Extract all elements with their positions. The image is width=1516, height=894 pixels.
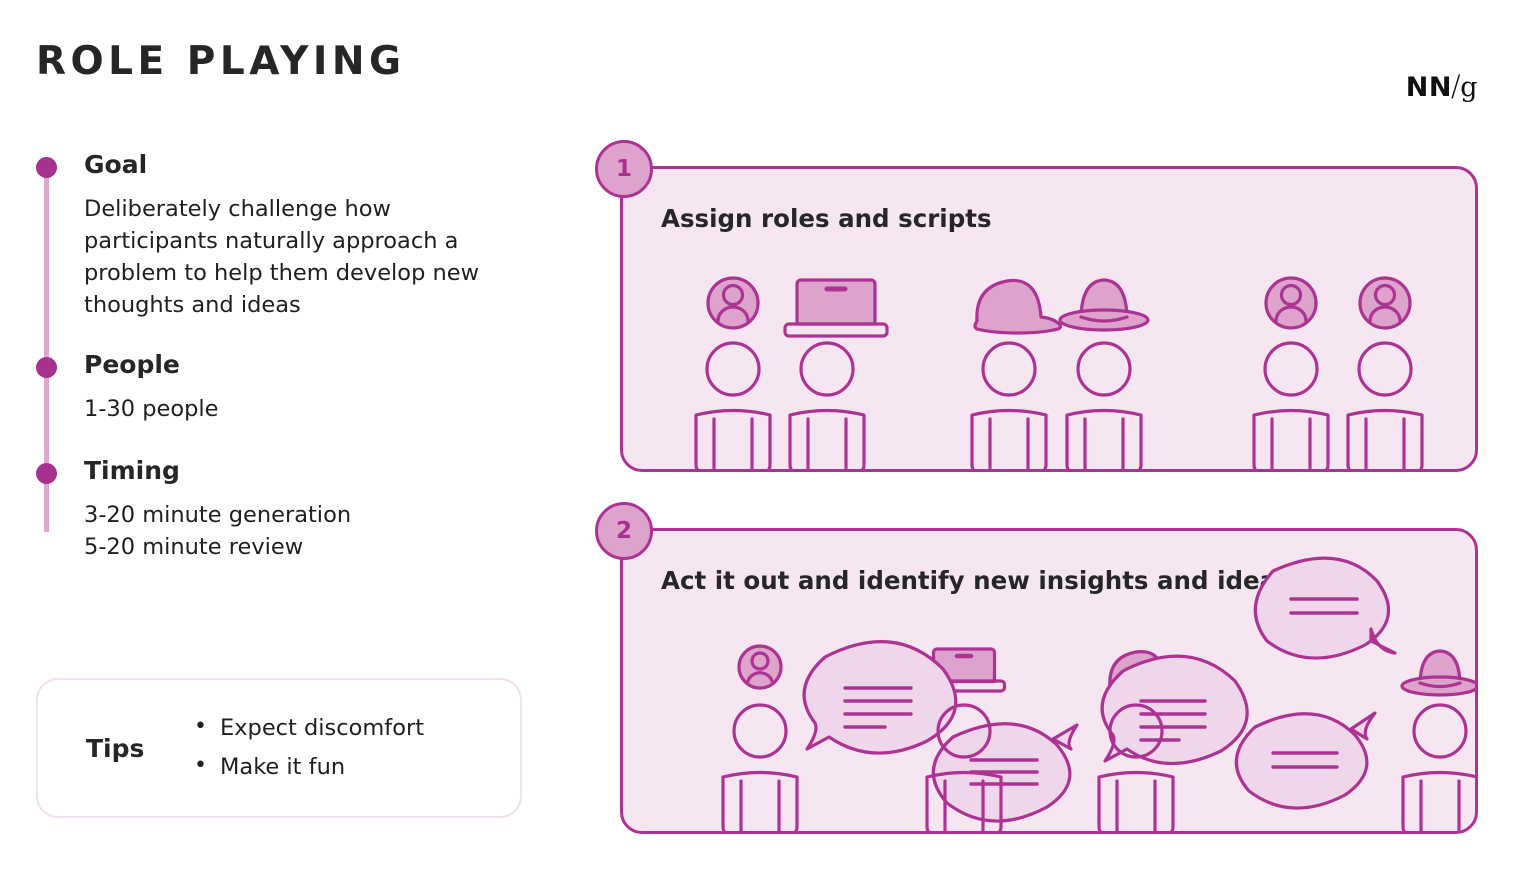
meta-text-people: 1-30 people <box>84 394 529 426</box>
meta-label-timing: Timing <box>84 456 556 486</box>
tips-list-item: Expect discomfort <box>194 709 424 748</box>
avatar-badge-icon <box>1266 278 1316 328</box>
meta-block-goal: Goal Deliberately challenge how particip… <box>36 150 556 322</box>
meta-text-timing: 3-20 minute generation 5-20 minute revie… <box>84 500 529 564</box>
figure-group-5 <box>1254 278 1328 472</box>
figure-group-4 <box>1060 280 1148 472</box>
page-title: ROLE PLAYING <box>36 42 406 81</box>
goal-line: thoughts and ideas <box>84 290 529 322</box>
step-panel-1: Assign roles and scripts <box>620 166 1478 472</box>
person-figure <box>723 705 797 834</box>
meta-text-goal: Deliberately challenge how participants … <box>84 194 529 322</box>
goal-line: participants naturally approach a <box>84 226 529 258</box>
timing-line: 3-20 minute generation <box>84 500 529 532</box>
meta-label-people: People <box>84 350 556 380</box>
timeline-dot-icon <box>36 157 57 178</box>
logo-g: g <box>1460 72 1478 103</box>
step-badge-2: 2 <box>595 502 653 560</box>
figure-group-3 <box>972 280 1061 472</box>
tips-label: Tips <box>86 734 194 763</box>
step-badge-1: 1 <box>595 140 653 198</box>
step-panel-2: Act it out and identify new insights and… <box>620 528 1478 834</box>
meta-block-people: People 1-30 people <box>36 350 556 426</box>
tips-box: Tips Expect discomfort Make it fun <box>36 678 522 818</box>
goal-line: problem to help them develop new <box>84 258 529 290</box>
figure-group-1 <box>696 278 770 472</box>
nng-logo: NN/g <box>1406 72 1478 101</box>
logo-nn: NN <box>1406 72 1452 103</box>
timing-line: 5-20 minute review <box>84 532 529 564</box>
tips-list: Expect discomfort Make it fun <box>194 709 424 786</box>
speech-bubble-icon <box>1102 656 1247 763</box>
avatar-badge-icon <box>708 278 758 328</box>
avatar-badge-icon <box>1360 278 1410 328</box>
goal-line: Deliberately challenge how <box>84 194 529 226</box>
speech-bubble-icon <box>804 642 956 754</box>
tips-list-item: Make it fun <box>194 748 424 787</box>
speech-bubble-icon <box>1255 558 1395 658</box>
meta-label-goal: Goal <box>84 150 556 180</box>
timeline-dot-icon <box>36 463 57 484</box>
step-2-illustration <box>623 531 1475 831</box>
timeline-dot-icon <box>36 357 57 378</box>
person-figure <box>1403 705 1477 834</box>
step-1-illustration <box>623 169 1475 469</box>
figure-group-6 <box>1348 278 1422 472</box>
fedora-hat-icon <box>1060 280 1148 330</box>
baseball-cap-icon <box>975 280 1061 333</box>
meta-block-timing: Timing 3-20 minute generation 5-20 minut… <box>36 456 556 564</box>
figure-group-2 <box>785 280 887 472</box>
meta-column: Goal Deliberately challenge how particip… <box>36 150 556 568</box>
speech-bubble-icon <box>1236 713 1375 808</box>
laptop-icon <box>785 280 887 336</box>
people-line: 1-30 people <box>84 394 529 426</box>
fedora-hat-icon <box>1402 651 1478 695</box>
avatar-badge-icon <box>739 646 781 688</box>
